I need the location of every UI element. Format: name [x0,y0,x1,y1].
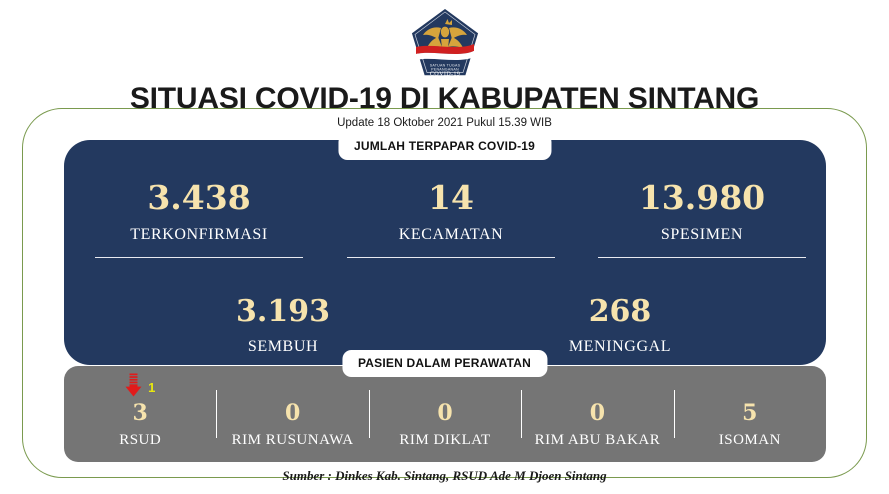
page-title: SITUASI COVID-19 DI KABUPATEN SINTANG [0,82,889,116]
stat-terkonfirmasi: 3.438 TERKONFIRMASI [95,181,303,258]
svg-text:COVID-19: COVID-19 [429,71,459,78]
stat-underline [598,257,806,258]
page-subtitle: Update 18 Oktober 2021 Pukul 15.39 WIB [0,117,889,129]
care-value: 3 [64,402,216,424]
care-cell-rim-diklat: 0 RIM DIKLAT [369,366,521,462]
stat-meninggal: 268 MENINGGAL [520,297,720,355]
satgas-covid19-logo: SATUAN TUGAS PENANGANAN COVID-19 [408,6,482,80]
stat-kecamatan: 14 KECAMATAN [347,181,555,258]
care-value: 0 [216,402,368,424]
delta-indicator-rsud: 1 [64,372,216,402]
stat-label: MENINGGAL [520,339,720,355]
care-value: 0 [521,402,673,424]
care-label: RIM DIKLAT [369,433,521,448]
stat-value: 14 [347,181,555,214]
care-cell-rim-rusunawa: 0 RIM RUSUNAWA [216,366,368,462]
stat-value: 3.193 [183,297,383,327]
care-value: 5 [674,402,826,424]
delta-count: 1 [148,381,155,394]
header: SATUAN TUGAS PENANGANAN COVID-19 SITUASI… [0,0,889,132]
care-value: 0 [369,402,521,424]
stat-spesimen: 13.980 SPESIMEN [598,181,806,258]
stat-sembuh: 3.193 SEMBUH [183,297,383,355]
care-label: RIM ABU BAKAR [521,433,673,448]
source-note: Sumber : Dinkes Kab. Sintang, RSUD Ade M… [0,468,889,484]
stat-value: 3.438 [95,181,303,214]
care-cell-isoman: 5 ISOMAN [674,366,826,462]
badge-pasien-dalam-perawatan: PASIEN DALAM PERAWATAN [342,350,547,377]
care-cell-rim-abu-bakar: 0 RIM ABU BAKAR [521,366,673,462]
stat-label: KECAMATAN [347,227,555,243]
stat-value: 13.980 [598,181,806,214]
stat-underline [95,257,303,258]
care-label: ISOMAN [674,433,826,448]
stat-label: TERKONFIRMASI [95,227,303,243]
care-label: RSUD [64,433,216,448]
patients-in-care-panel: 1 3 RSUD 0 RIM RUSUNAWA 0 RIM DIKLAT 0 R… [64,366,826,462]
care-cell-rsud: 1 3 RSUD [64,366,216,462]
arrow-down-icon [125,373,142,402]
badge-jumlah-terpapar: JUMLAH TERPAPAR COVID-19 [338,133,551,160]
stat-label: SPESIMEN [598,227,806,243]
stat-value: 268 [520,297,720,327]
care-label: RIM RUSUNAWA [216,433,368,448]
stat-underline [347,257,555,258]
